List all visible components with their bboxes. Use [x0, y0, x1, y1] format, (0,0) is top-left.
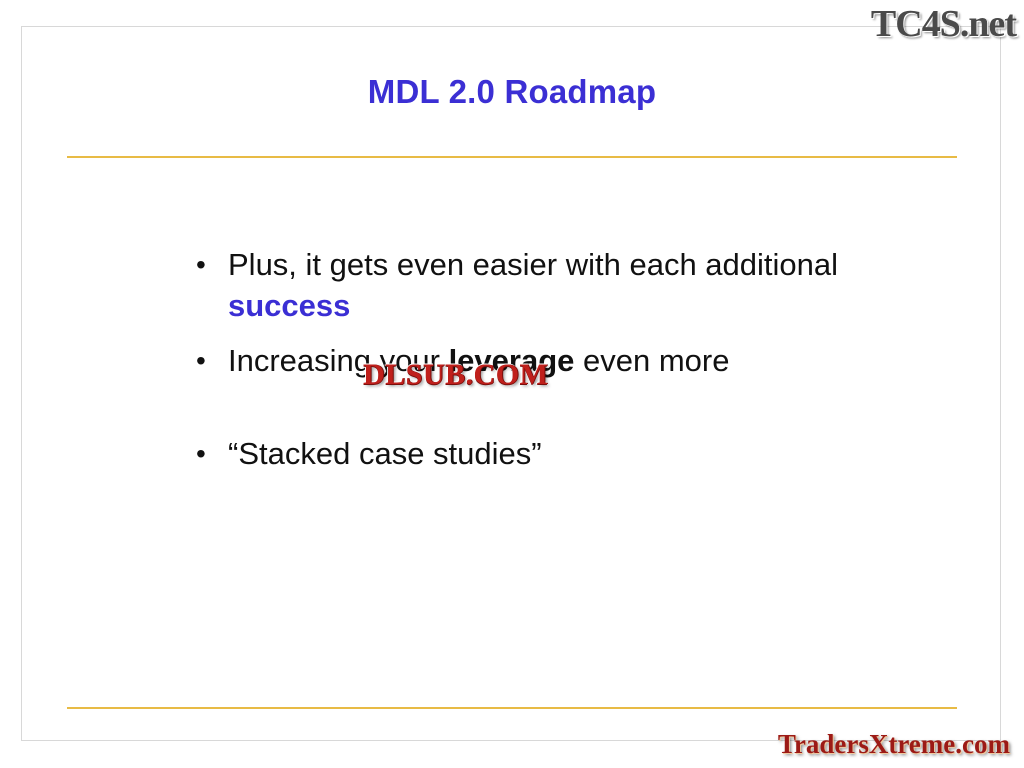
slide-body: • Plus, it gets even easier with each ad…: [196, 245, 916, 475]
bullet-marker-icon: •: [196, 341, 228, 382]
bullet-item-3: • “Stacked case studies”: [196, 434, 916, 475]
bullet-item-1: • Plus, it gets even easier with each ad…: [196, 245, 916, 327]
divider-top: [67, 156, 957, 158]
bullet-marker-icon: •: [196, 245, 228, 286]
spacer-1: [196, 327, 916, 341]
divider-bottom: [67, 707, 957, 709]
spacer-2: [196, 382, 916, 434]
bullet-1-keyword-success: success: [228, 288, 350, 323]
slide-canvas: TC4S.net MDL 2.0 Roadmap • Plus, it gets…: [0, 0, 1024, 768]
bullet-marker-icon: •: [196, 434, 228, 475]
bullet-text-1: Plus, it gets even easier with each addi…: [228, 245, 868, 327]
slide-title: MDL 2.0 Roadmap: [0, 73, 1024, 111]
watermark-center: DLSUB.COM: [363, 358, 548, 392]
watermark-top-right: TC4S.net: [871, 2, 1016, 46]
bullet-text-3: “Stacked case studies”: [228, 434, 868, 475]
bullet-item-2: • Increasing your leverage even more: [196, 341, 916, 382]
bullet-2-part-3: even more: [574, 343, 729, 378]
watermark-bottom-right: TradersXtreme.com: [778, 729, 1010, 760]
bullet-1-part-1: Plus, it gets even easier with each addi…: [228, 247, 838, 282]
